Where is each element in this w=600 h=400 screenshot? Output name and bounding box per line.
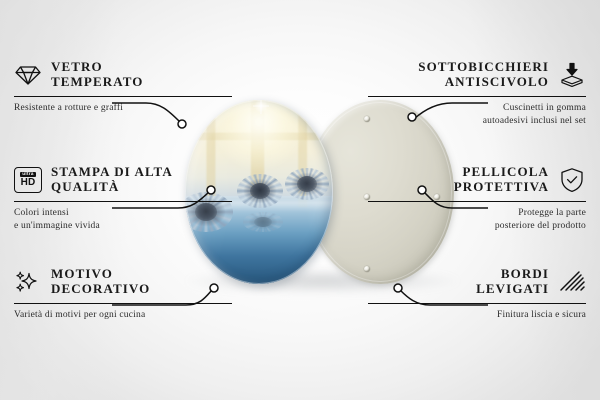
ultra-hd-badge-icon: ultra HD (14, 166, 42, 194)
water-lily-center (297, 176, 317, 192)
connector-dot-vetro-temperato (178, 120, 186, 128)
water-lily-flower (237, 174, 283, 208)
callout-header: ultra HD STAMPA DI ALTA QUALITÀ (14, 163, 232, 197)
feature-title: BORDI LEVIGATI (476, 267, 549, 297)
feature-title: SOTTOBICCHIERI ANTISCIVOLO (418, 60, 549, 90)
callout-header: MOTIVO DECORATIVO (14, 265, 232, 299)
sparkles-icon (14, 268, 42, 296)
callout-divider (14, 96, 232, 97)
press-pad-icon (558, 61, 586, 89)
diamond-icon (14, 61, 42, 89)
feature-description: Varietà di motivi per ogni cucina (14, 309, 232, 322)
callout-header: SOTTOBICCHIERI ANTISCIVOLO (368, 58, 586, 92)
water-lily-center (250, 183, 270, 199)
feature-title: PELLICOLA PROTETTIVA (454, 165, 549, 195)
callout-divider (368, 303, 586, 304)
feature-description: Colori intensi e un'immagine vivida (14, 207, 232, 232)
feature-description: Resistente a rotture e graffi (14, 102, 232, 115)
callout-header: BORDI LEVIGATI (368, 265, 586, 299)
feature-description: Protegge la parte posteriore del prodott… (368, 207, 586, 232)
feature-title: VETRO TEMPERATO (51, 60, 143, 90)
glass-sparkle-icon (253, 100, 269, 114)
callout-divider (14, 201, 232, 202)
water-lily-center (254, 217, 272, 227)
infographic-canvas: VETRO TEMPERATO Resistente a rotture e g… (0, 0, 600, 400)
feature-callout-sottobicchieri-antiscivolo: SOTTOBICCHIERI ANTISCIVOLO Cuscinetti in… (368, 58, 586, 127)
callout-header: VETRO TEMPERATO (14, 58, 232, 92)
feature-callout-vetro-temperato: VETRO TEMPERATO Resistente a rotture e g… (14, 58, 232, 115)
water-lily-reflection (243, 212, 283, 232)
feature-title: STAMPA DI ALTA QUALITÀ (51, 165, 173, 195)
callout-divider (368, 201, 586, 202)
callout-divider (368, 96, 586, 97)
feature-description: Finitura liscia e sicura (368, 309, 586, 322)
water-lily-flower (285, 168, 329, 200)
feature-title: MOTIVO DECORATIVO (51, 267, 150, 297)
ultra-hd-main-label: HD (21, 178, 36, 188)
feature-callout-stampa-di-alta-qualita: ultra HD STAMPA DI ALTA QUALITÀ Colori i… (14, 163, 232, 232)
callout-header: PELLICOLA PROTETTIVA (368, 163, 586, 197)
feature-callout-motivo-decorativo: MOTIVO DECORATIVO Varietà di motivi per … (14, 265, 232, 322)
callout-divider (14, 303, 232, 304)
feature-callout-bordi-levigati: BORDI LEVIGATI Finitura liscia e sicura (368, 265, 586, 322)
shield-check-icon (558, 166, 586, 194)
feature-callout-pellicola-protettiva: PELLICOLA PROTETTIVA Protegge la parte p… (368, 163, 586, 232)
beveled-edge-icon (558, 268, 586, 296)
feature-description: Cuscinetti in gomma autoadesivi inclusi … (368, 102, 586, 127)
